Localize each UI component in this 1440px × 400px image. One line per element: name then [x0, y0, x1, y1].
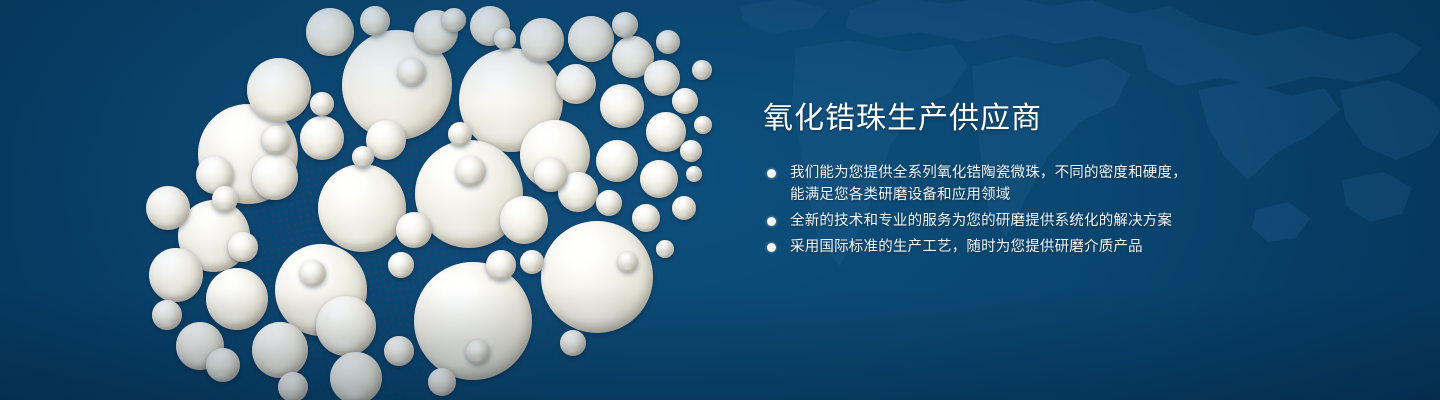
bullet-line: 采用国际标准的生产工艺，随时为您提供研磨介质产品 [790, 236, 1323, 258]
banner-bullet-list: 我们能为您提供全系列氧化锆陶瓷微珠，不同的密度和硬度， 能满足您各类研磨设备和应… [763, 162, 1323, 258]
bullet-dot-icon [767, 169, 776, 178]
bullet-line: 我们能为您提供全系列氧化锆陶瓷微珠，不同的密度和硬度， [790, 162, 1323, 184]
bullet-dot-icon [767, 243, 776, 252]
banner-copy-block: 氧化锆珠生产供应商 我们能为您提供全系列氧化锆陶瓷微珠，不同的密度和硬度， 能满… [763, 104, 1323, 258]
bullet-line: 全新的技术和专业的服务为您的研磨提供系统化的解决方案 [790, 210, 1323, 232]
bullet-dot-icon [767, 217, 776, 226]
banner-bullet-item: 全新的技术和专业的服务为您的研磨提供系统化的解决方案 [763, 210, 1323, 232]
banner-headline: 氧化锆珠生产供应商 [763, 104, 1323, 134]
banner-bullet-item: 我们能为您提供全系列氧化锆陶瓷微珠，不同的密度和硬度， 能满足您各类研磨设备和应… [763, 162, 1323, 206]
hero-banner: 氧化锆珠生产供应商 我们能为您提供全系列氧化锆陶瓷微珠，不同的密度和硬度， 能满… [0, 0, 1440, 400]
banner-bullet-item: 采用国际标准的生产工艺，随时为您提供研磨介质产品 [763, 236, 1323, 258]
bullet-line: 能满足您各类研磨设备和应用领域 [790, 184, 1323, 206]
